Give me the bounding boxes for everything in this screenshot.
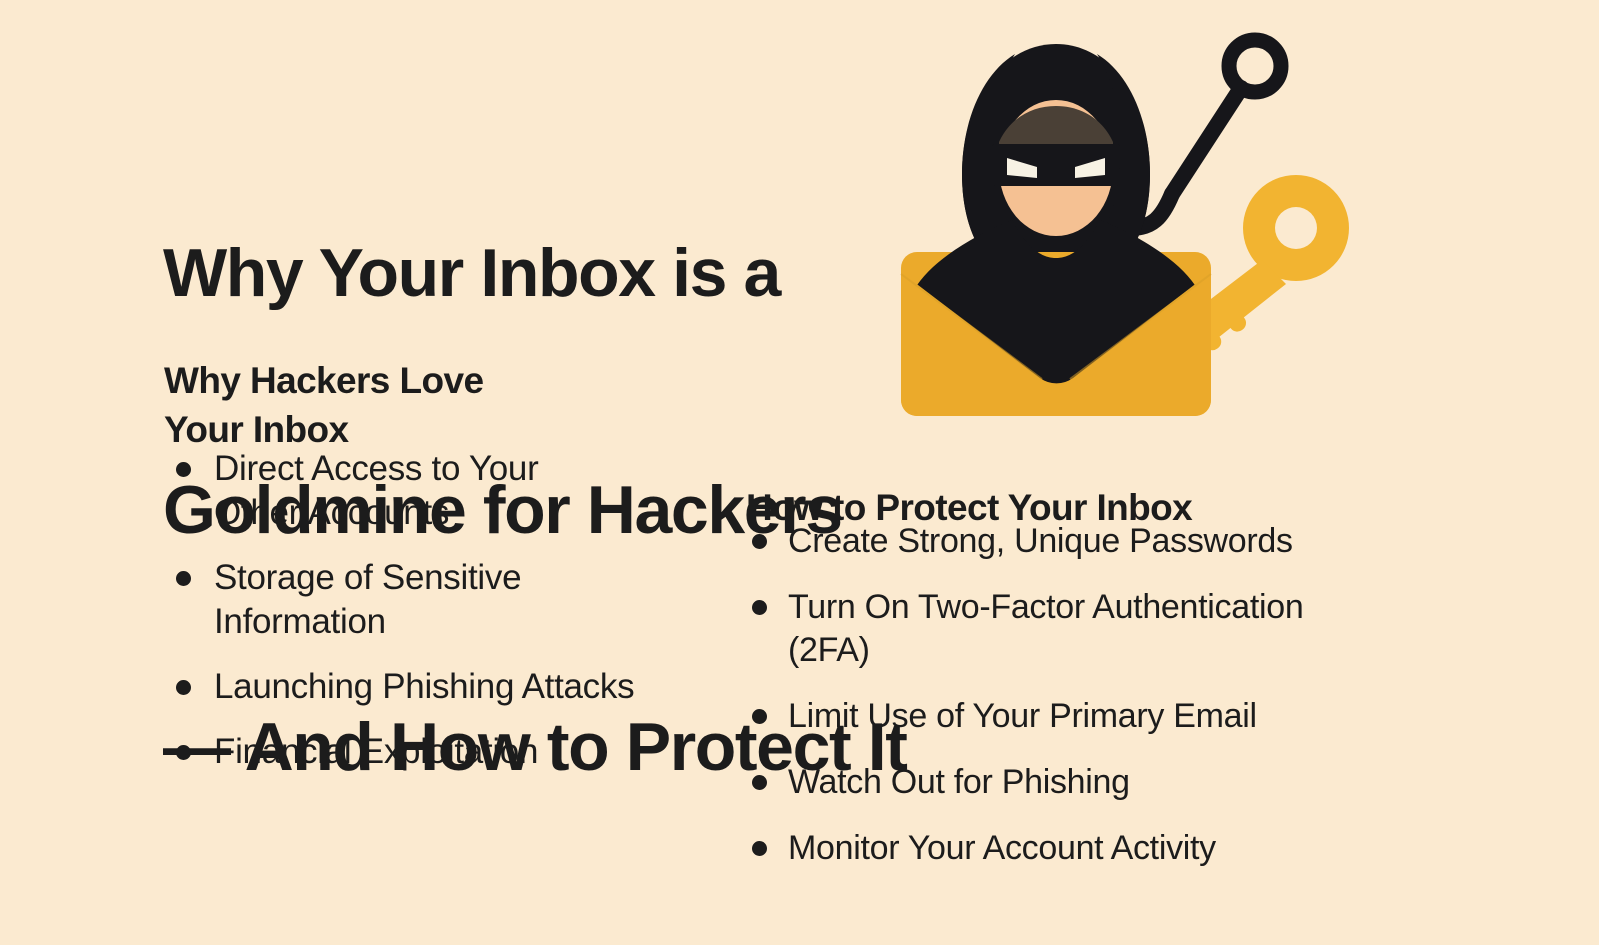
bullet-dot-icon: [752, 600, 767, 615]
bullet-list-how-to-protect: Create Strong, Unique Passwords Turn On …: [742, 520, 1422, 893]
bullet-dot-icon: [752, 775, 767, 790]
list-item-label: Monitor Your Account Activity: [788, 827, 1422, 870]
list-item-label: Financial Exploitation: [214, 730, 706, 774]
list-item-label: Turn On Two-Factor Authentication (2FA): [788, 586, 1422, 672]
list-item-label: Direct Access to Your Other Accounts: [214, 447, 706, 535]
list-item-label: Watch Out for Phishing: [788, 761, 1422, 804]
list-item-label: Limit Use of Your Primary Email: [788, 695, 1422, 738]
list-item-label: Storage of Sensitive Information: [214, 556, 706, 644]
list-item: Turn On Two-Factor Authentication (2FA): [742, 586, 1422, 672]
list-item: Direct Access to Your Other Accounts: [166, 447, 706, 535]
bullet-dot-icon: [752, 534, 767, 549]
list-item: Monitor Your Account Activity: [742, 827, 1422, 870]
list-item-label: Create Strong, Unique Passwords: [788, 520, 1422, 563]
list-item: Limit Use of Your Primary Email: [742, 695, 1422, 738]
list-item-label: Launching Phishing Attacks: [214, 665, 706, 709]
section-heading-why-hackers-love-your-inbox: Why Hackers Love Your Inbox: [164, 356, 604, 454]
list-item: Create Strong, Unique Passwords: [742, 520, 1422, 563]
page-title-line-1: Why Your Inbox is a: [163, 234, 963, 313]
list-item: Watch Out for Phishing: [742, 761, 1422, 804]
bullet-list-why-hackers-love: Direct Access to Your Other Accounts Sto…: [166, 447, 706, 795]
bullet-dot-icon: [176, 680, 191, 695]
list-item: Launching Phishing Attacks: [166, 665, 706, 709]
hacker-envelope-illustration: [900, 22, 1370, 422]
list-item: Financial Exploitation: [166, 730, 706, 774]
bullet-dot-icon: [176, 462, 191, 477]
bullet-dot-icon: [176, 571, 191, 586]
bullet-dot-icon: [176, 745, 191, 760]
bullet-dot-icon: [752, 841, 767, 856]
infographic-root: Why Your Inbox is a Goldmine for Hackers…: [0, 0, 1599, 899]
list-item: Storage of Sensitive Information: [166, 556, 706, 644]
bullet-dot-icon: [752, 709, 767, 724]
